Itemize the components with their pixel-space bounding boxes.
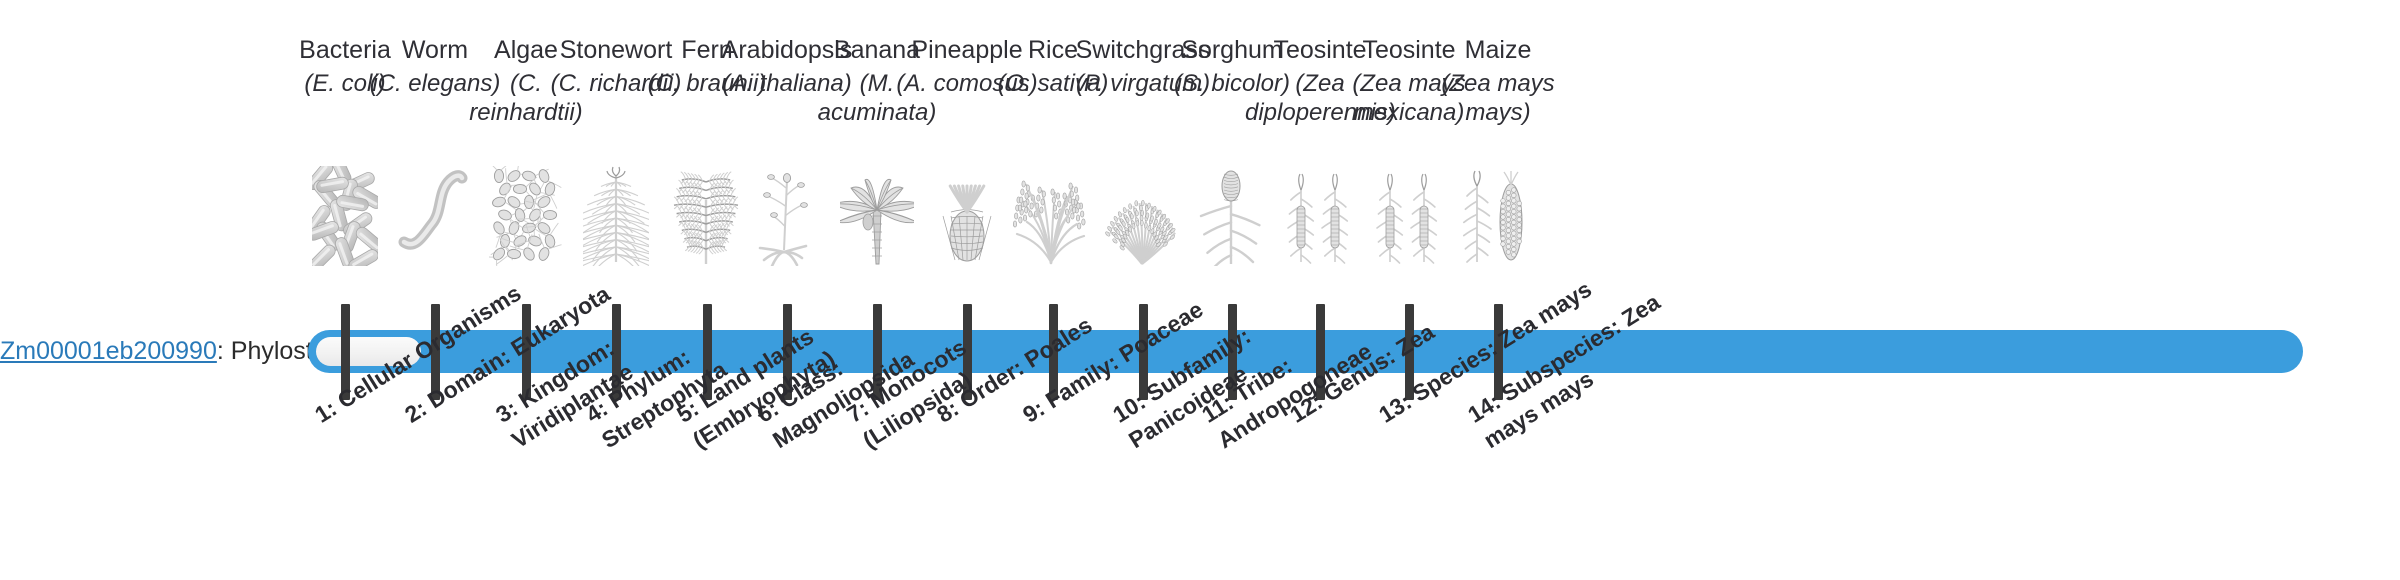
- gene-label-separator: :: [217, 337, 231, 365]
- rank-number: 2:: [400, 395, 431, 428]
- rank-number: 1:: [310, 395, 341, 428]
- rank-number: 8:: [932, 395, 963, 428]
- species-common-name: Maize: [1423, 34, 1573, 66]
- rank-number: 5:: [672, 395, 703, 428]
- rank-number: 7:: [842, 395, 873, 428]
- rank-number: 9:: [1018, 395, 1049, 428]
- rank-number: 4:: [581, 395, 612, 428]
- rank-number: 3:: [491, 395, 522, 428]
- maize-illustration: [1423, 166, 1573, 260]
- gene-phylostratum-label: Zm00001eb200990: Phylostratum 2: [0, 336, 295, 366]
- phylostratigraphy-figure: Bacteria(E. coli)Worm(C. elegans)Algae(C…: [0, 0, 2400, 580]
- gene-id-link[interactable]: Zm00001eb200990: [0, 337, 217, 365]
- species-column-14: Maize(Zea mays mays): [1423, 34, 1573, 127]
- rank-number: 6:: [752, 395, 783, 428]
- species-scientific-name: (Zea mays mays): [1423, 69, 1573, 127]
- rank-number: 13:: [1374, 388, 1416, 428]
